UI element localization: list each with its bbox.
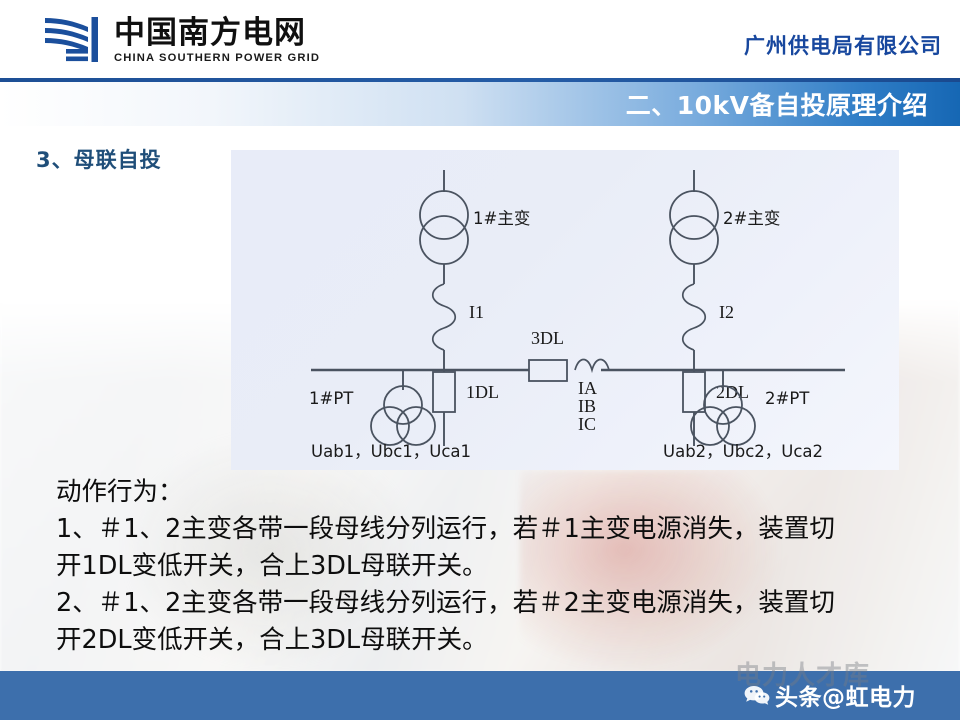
watermark-label: 头条@虹电力	[775, 678, 916, 712]
pt-left-voltages: Uab1，Ubc1，Uca1	[311, 442, 471, 461]
page-title: 二、10kV备自投原理介绍	[626, 86, 928, 122]
title-band: 二、10kV备自投原理介绍	[0, 82, 960, 126]
pt-right-voltages: Uab2，Ubc2，Uca2	[663, 442, 823, 461]
pt-right-label: 2#PT	[765, 389, 810, 408]
body-line-2a: 2、＃1、2主变各带一段母线分列运行，若＃2主变电源消失，装置切	[56, 585, 916, 622]
company-name: 广州供电局有限公司	[744, 30, 942, 60]
logo-chinese-text: 中国南方电网	[114, 16, 320, 50]
breaker-3dl	[529, 360, 567, 381]
pt-left-winding-right	[397, 407, 435, 445]
pt-left-label: 1#PT	[309, 389, 354, 408]
section-heading: 3、母联自投	[36, 144, 162, 174]
brand-logo: 中国南方电网 CHINA SOUTHERN POWER GRID	[44, 16, 320, 65]
body-line-2b: 开2DL变低开关，合上3DL母联开关。	[56, 622, 916, 659]
bus-coupler-ct	[575, 360, 609, 371]
breaker-2dl-label: 2DL	[716, 382, 749, 402]
transformer-left-winding-upper	[420, 191, 468, 239]
reactor-left-label: I1	[469, 302, 484, 322]
speech-bubble-icon	[744, 685, 770, 706]
reactor-right	[683, 284, 706, 350]
current-label-ia: IA	[578, 378, 597, 398]
reactor-right-label: I2	[719, 302, 734, 322]
slide-root: 中国南方电网 CHINA SOUTHERN POWER GRID 广州供电局有限…	[0, 0, 960, 720]
body-intro: 动作行为：	[56, 474, 916, 511]
breaker-3dl-label: 3DL	[531, 328, 564, 348]
transformer-left-winding-lower	[420, 216, 468, 264]
logo-english-text: CHINA SOUTHERN POWER GRID	[114, 51, 320, 65]
single-line-diagram: .ln { stroke:#4a5360; stroke-width:1.9; …	[231, 150, 899, 470]
reactor-left	[433, 284, 456, 350]
breaker-1dl	[433, 372, 455, 412]
current-label-ic: IC	[578, 414, 596, 434]
watermark-main: 头条@虹电力	[744, 678, 916, 712]
transformer-right-label: 2#主变	[723, 209, 780, 228]
pt-left-winding-top	[384, 386, 422, 424]
southern-power-grid-logo-icon	[44, 16, 104, 64]
transformer-right-winding-lower	[670, 216, 718, 264]
current-label-ib: IB	[578, 396, 596, 416]
breaker-2dl	[683, 372, 705, 412]
pt-right-winding-right	[717, 407, 755, 445]
body-text: 动作行为： 1、＃1、2主变各带一段母线分列运行，若＃1主变电源消失，装置切 开…	[56, 474, 916, 659]
body-line-1a: 1、＃1、2主变各带一段母线分列运行，若＃1主变电源消失，装置切	[56, 511, 916, 548]
transformer-right-winding-upper	[670, 191, 718, 239]
body-line-1b: 开1DL变低开关，合上3DL母联开关。	[56, 548, 916, 585]
transformer-left-label: 1#主变	[473, 209, 530, 228]
breaker-1dl-label: 1DL	[466, 382, 499, 402]
diagram-svg: .ln { stroke:#4a5360; stroke-width:1.9; …	[231, 150, 899, 470]
slide-header: 中国南方电网 CHINA SOUTHERN POWER GRID 广州供电局有限…	[0, 0, 960, 78]
